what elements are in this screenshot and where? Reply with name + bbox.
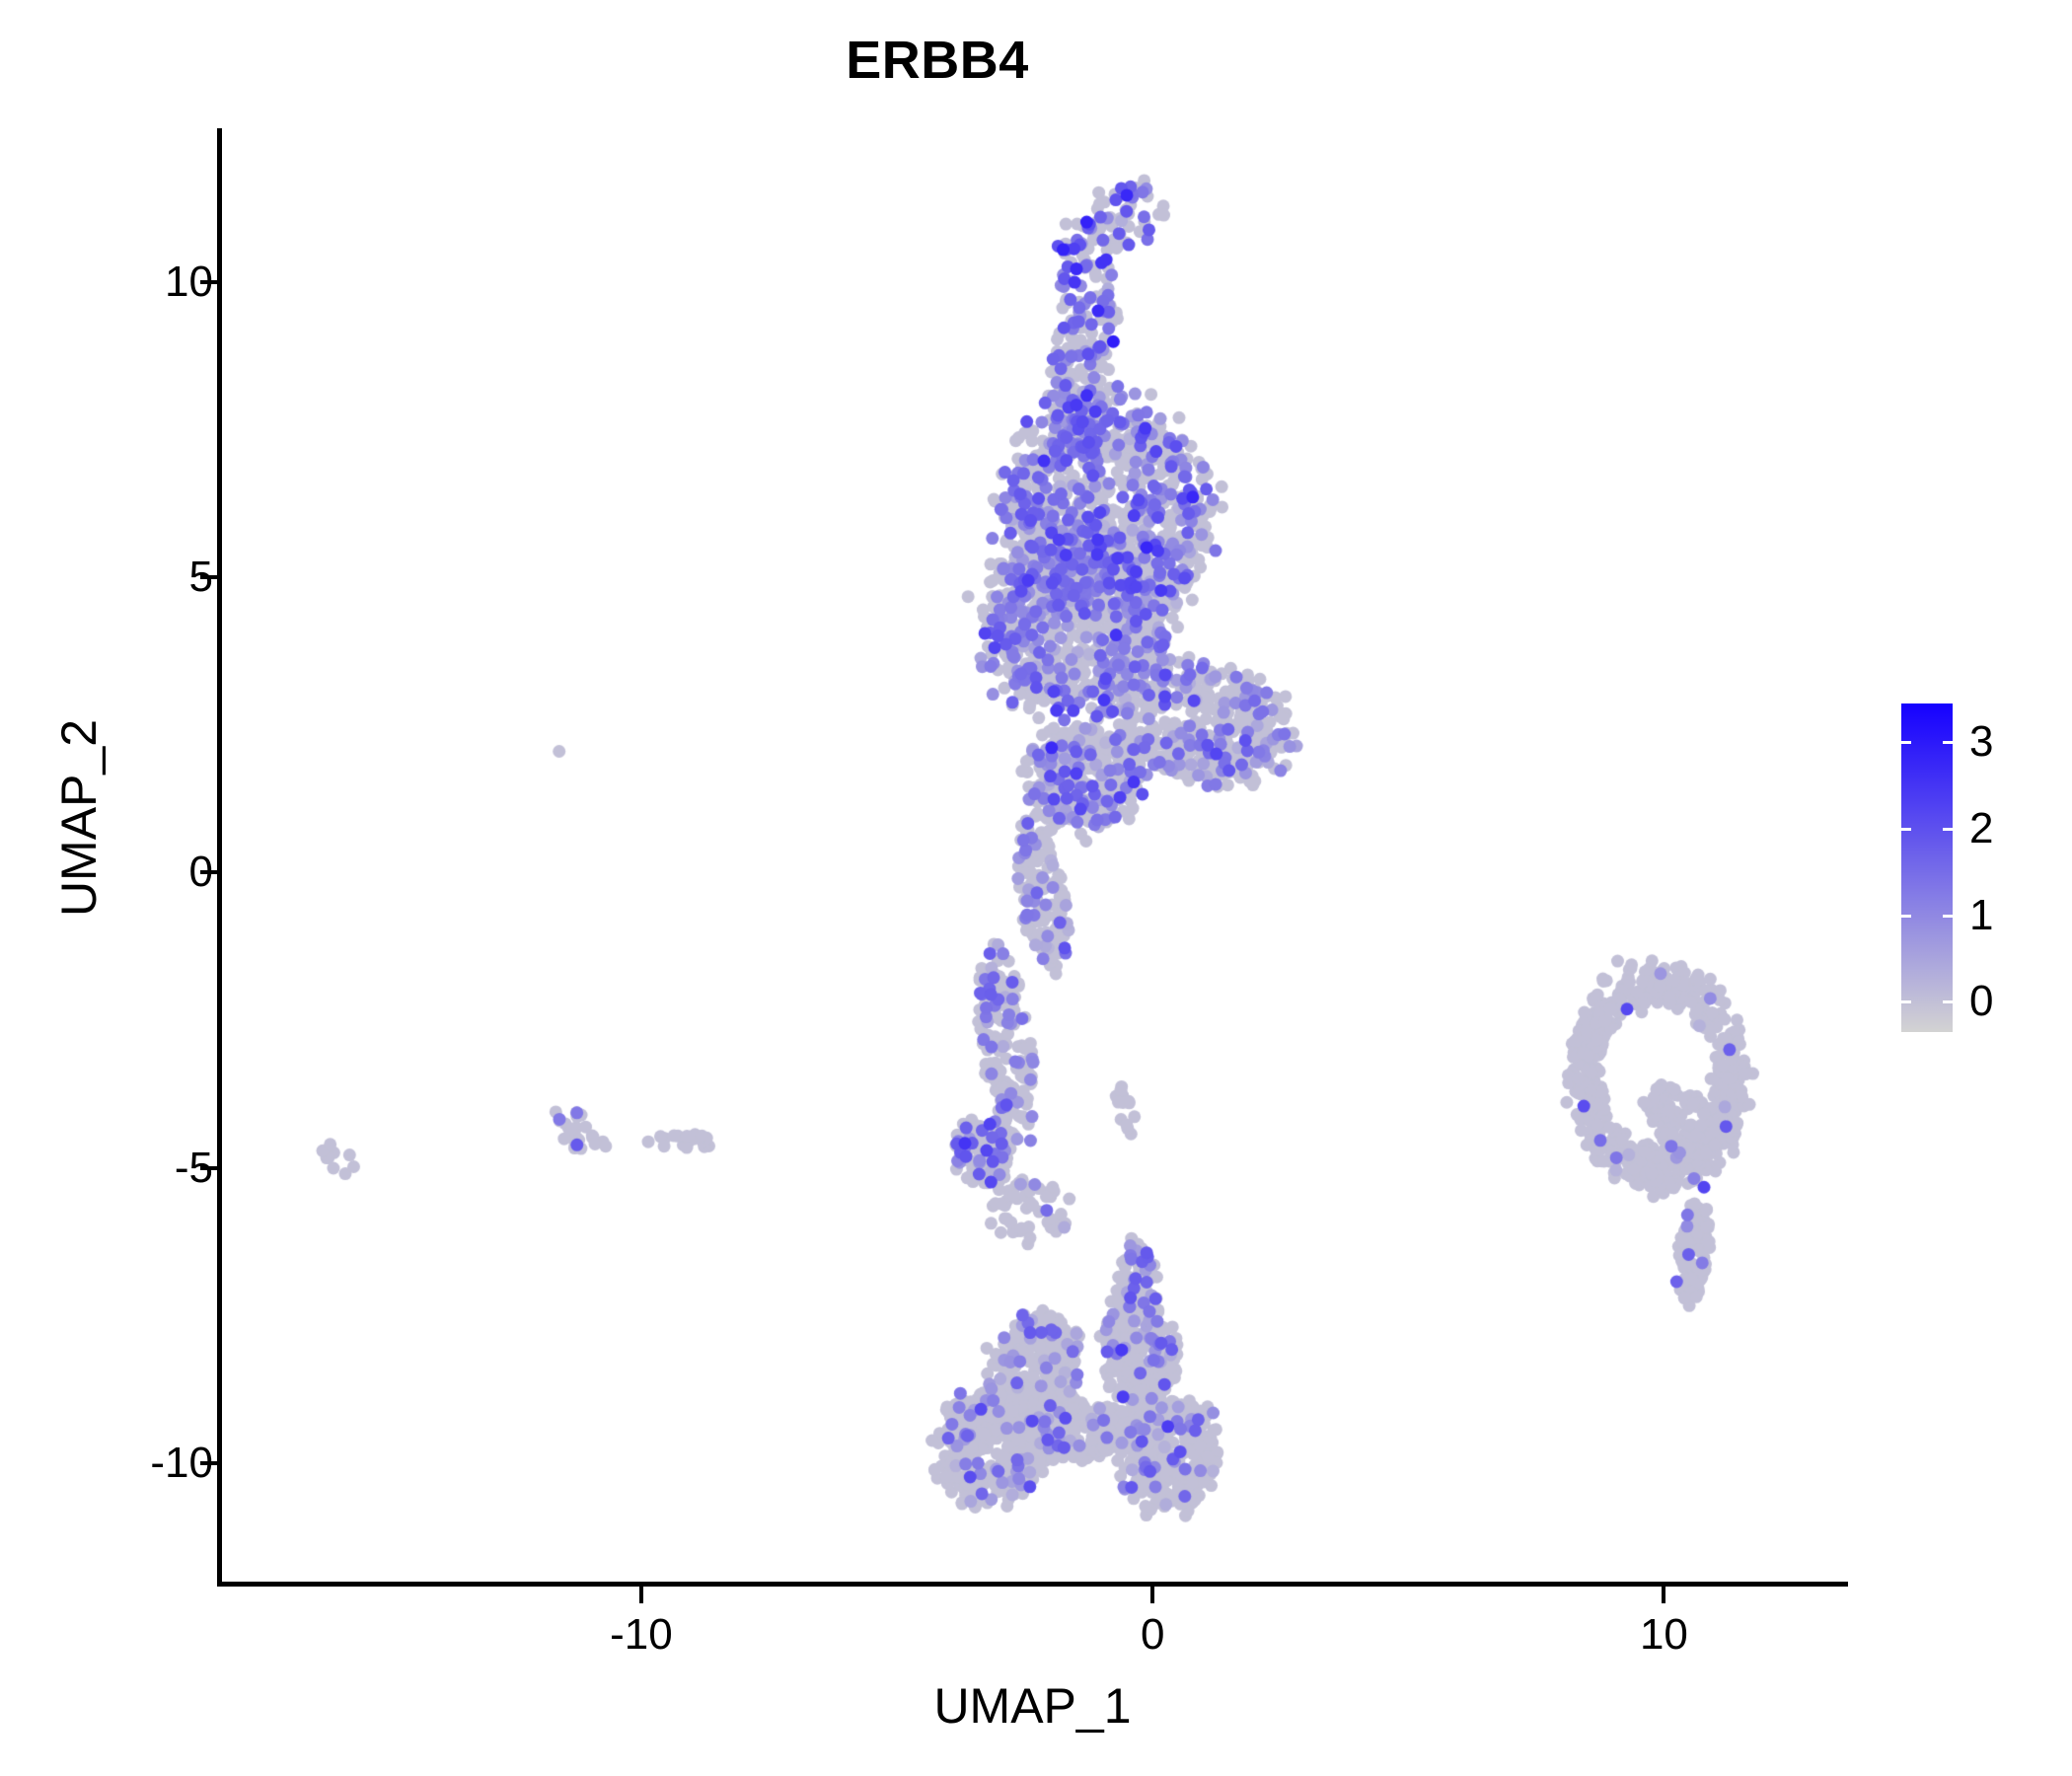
x-tick-mark xyxy=(1150,1587,1154,1603)
colorbar-tick-mark xyxy=(1901,915,1911,918)
y-axis-label: UMAP_2 xyxy=(50,473,108,1163)
colorbar-gradient xyxy=(1901,703,1953,1032)
y-tick-label: 5 xyxy=(189,553,213,602)
colorbar-tick-mark xyxy=(1943,1000,1953,1003)
feature-plot-root: ERBB4 -10-50510 -10010 UMAP_1 UMAP_2 012… xyxy=(0,0,2072,1776)
y-tick-label: 0 xyxy=(189,848,213,897)
x-tick-label: 0 xyxy=(1141,1610,1164,1660)
y-tick-label: -10 xyxy=(150,1439,213,1488)
colorbar-tick-mark xyxy=(1943,828,1953,831)
colorbar-tick-mark xyxy=(1901,741,1911,744)
colorbar-legend: 0123 xyxy=(1894,691,2062,1046)
y-tick-label: 10 xyxy=(165,258,213,307)
scatter-plot-area xyxy=(222,128,1848,1582)
page-title: ERBB4 xyxy=(0,30,1875,91)
colorbar-tick-label: 3 xyxy=(1969,717,1993,767)
x-axis-line xyxy=(217,1582,1848,1587)
x-tick-label: -10 xyxy=(610,1610,673,1660)
y-tick-label: -5 xyxy=(175,1144,213,1193)
x-tick-mark xyxy=(1662,1587,1665,1603)
colorbar-tick-label: 1 xyxy=(1969,891,1993,940)
colorbar-tick-mark xyxy=(1901,828,1911,831)
colorbar-tick-mark xyxy=(1901,1000,1911,1003)
x-axis-label: UMAP_1 xyxy=(217,1677,1848,1735)
colorbar-tick-label: 0 xyxy=(1969,977,1993,1026)
x-tick-label: 10 xyxy=(1640,1610,1688,1660)
x-tick-mark xyxy=(639,1587,643,1603)
y-axis-line xyxy=(217,128,222,1587)
colorbar-tick-mark xyxy=(1943,915,1953,918)
colorbar-tick-mark xyxy=(1943,741,1953,744)
colorbar-tick-label: 2 xyxy=(1969,804,1993,853)
